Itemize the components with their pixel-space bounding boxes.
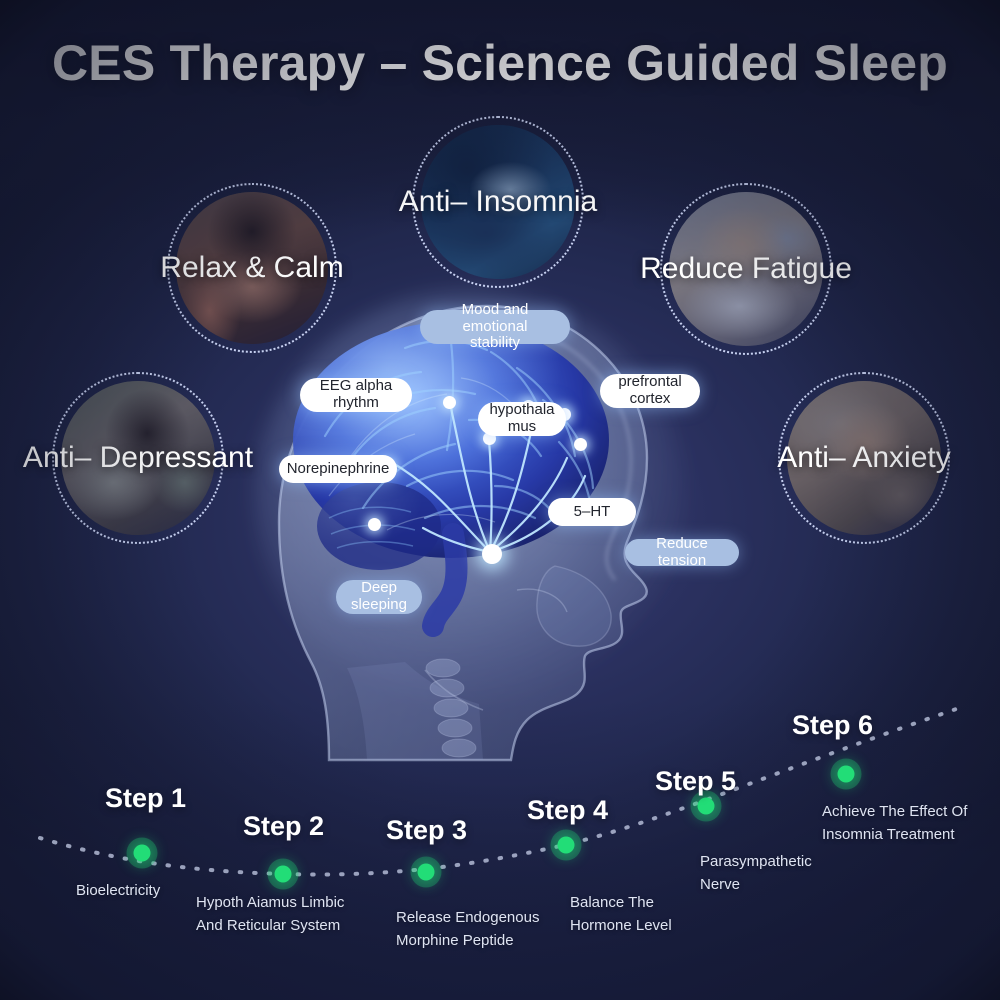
step-label-6: Step 6 [792, 710, 873, 741]
step-dot-3 [418, 864, 435, 881]
step-dot-6 [838, 766, 855, 783]
step-desc-6: Achieve The Effect Of Insomnia Treatment [822, 800, 967, 847]
step-desc-5: Parasympathetic Nerve [700, 850, 812, 897]
step-dot-2 [275, 866, 292, 883]
step-label-1: Step 1 [105, 783, 186, 814]
step-label-5: Step 5 [655, 766, 736, 797]
step-desc-2: Hypoth Aiamus Limbic And Reticular Syste… [196, 891, 344, 938]
steps-timeline: Step 1 Step 2 Step 3 Step 4 Step 5 Step … [0, 690, 1000, 1000]
infographic-page: CES Therapy – Science Guided Sleep [0, 0, 1000, 1000]
step-desc-4: Balance The Hormone Level [570, 891, 672, 938]
step-desc-3: Release Endogenous Morphine Peptide [396, 906, 539, 953]
step-dot-5 [698, 798, 715, 815]
step-label-4: Step 4 [527, 795, 608, 826]
step-dot-1 [134, 845, 151, 862]
step-dot-4 [558, 837, 575, 854]
step-label-3: Step 3 [386, 815, 467, 846]
step-label-2: Step 2 [243, 811, 324, 842]
step-desc-1: Bioelectricity [76, 879, 160, 902]
